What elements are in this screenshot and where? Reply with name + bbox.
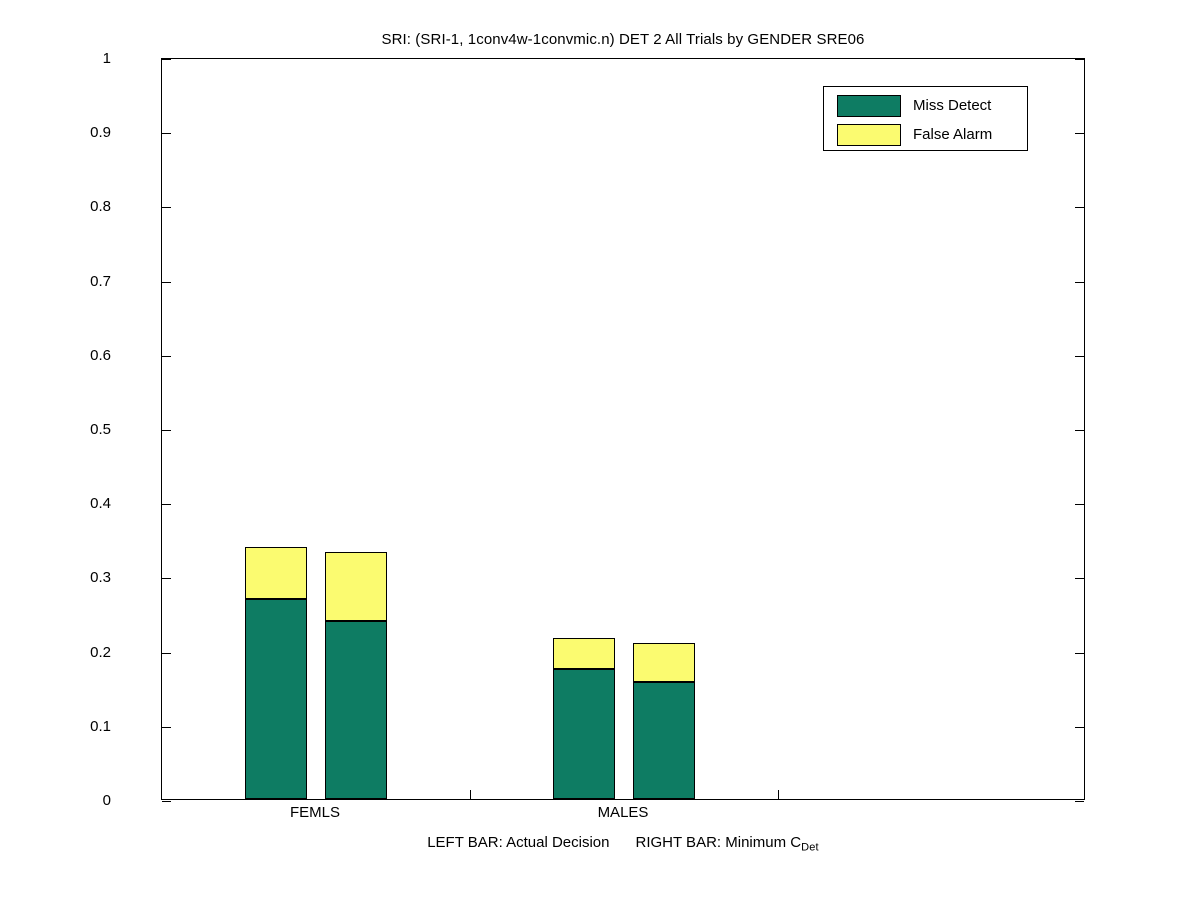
bar-segment-false-alarm (553, 638, 615, 669)
x-axis-tick (778, 790, 779, 799)
x-axis-caption-right: RIGHT BAR: Minimum C (636, 834, 802, 851)
bar-segment-false-alarm (245, 547, 307, 599)
y-axis-tick-right (1075, 282, 1084, 283)
y-axis-tick (162, 578, 171, 579)
y-axis-tick-right (1075, 801, 1084, 802)
y-axis-tick-label: 0.9 (51, 125, 111, 140)
legend-swatch-icon (837, 95, 901, 117)
y-axis-tick-label: 0.4 (51, 496, 111, 511)
legend-swatch-icon (837, 124, 901, 146)
y-axis-tick (162, 282, 171, 283)
x-axis-tick (470, 790, 471, 799)
x-axis-caption: LEFT BAR: Actual DecisionRIGHT BAR: Mini… (161, 834, 1085, 857)
legend-item-miss-detect[interactable]: Miss Detect (824, 91, 1027, 119)
legend-label: False Alarm (913, 124, 992, 146)
y-axis-tick (162, 59, 171, 60)
bar-segment-miss-detect (325, 621, 387, 799)
y-axis-tick-right (1075, 59, 1084, 60)
bar-femls-actual (245, 547, 307, 799)
y-axis-tick-right (1075, 504, 1084, 505)
bar-segment-miss-detect (245, 599, 307, 799)
y-axis-tick-label: 0.6 (51, 348, 111, 363)
y-axis-tick-label: 0.8 (51, 199, 111, 214)
y-axis-tick-label: 0.1 (51, 719, 111, 734)
y-axis-tick (162, 504, 171, 505)
y-axis-tick (162, 430, 171, 431)
bar-segment-false-alarm (325, 552, 387, 621)
bar-males-mindet (633, 643, 695, 799)
legend-label: Miss Detect (913, 95, 991, 117)
y-axis-tick-label: 0.7 (51, 274, 111, 289)
y-axis-tick-label: 0 (51, 793, 111, 808)
y-axis-tick (162, 727, 171, 728)
bar-segment-miss-detect (633, 682, 695, 799)
x-axis-category-label-femls: FEMLS (235, 804, 395, 821)
chart-title: SRI: (SRI-1, 1conv4w-1convmic.n) DET 2 A… (161, 31, 1085, 49)
bar-males-actual (553, 638, 615, 799)
x-axis-caption-subscript: Det (801, 842, 819, 854)
y-axis-tick-right (1075, 207, 1084, 208)
legend-item-false-alarm[interactable]: False Alarm (824, 120, 1027, 148)
plot-area (161, 58, 1085, 800)
x-axis-category-label-males: MALES (543, 804, 703, 821)
bar-segment-false-alarm (633, 643, 695, 682)
y-axis-tick-label: 0.2 (51, 645, 111, 660)
y-axis-tick-label: 0.5 (51, 422, 111, 437)
y-axis-tick (162, 801, 171, 802)
y-axis-tick-right (1075, 727, 1084, 728)
y-axis-tick-right (1075, 430, 1084, 431)
chart-legend[interactable]: Miss DetectFalse Alarm (823, 86, 1028, 151)
y-axis-tick (162, 356, 171, 357)
y-axis-tick-label: 0.3 (51, 570, 111, 585)
bar-femls-mindet (325, 552, 387, 799)
bars-layer (162, 59, 1084, 799)
y-axis-tick-right (1075, 578, 1084, 579)
y-axis-tick (162, 653, 171, 654)
y-axis-tick-right (1075, 356, 1084, 357)
y-axis-tick (162, 133, 171, 134)
y-axis-tick-right (1075, 653, 1084, 654)
y-axis-tick-right (1075, 133, 1084, 134)
bar-segment-miss-detect (553, 669, 615, 799)
y-axis-tick (162, 207, 171, 208)
x-axis-caption-left: LEFT BAR: Actual Decision (427, 834, 609, 851)
figure-canvas: SRI: (SRI-1, 1conv4w-1convmic.n) DET 2 A… (0, 0, 1201, 900)
y-axis-tick-label: 1 (51, 51, 111, 66)
